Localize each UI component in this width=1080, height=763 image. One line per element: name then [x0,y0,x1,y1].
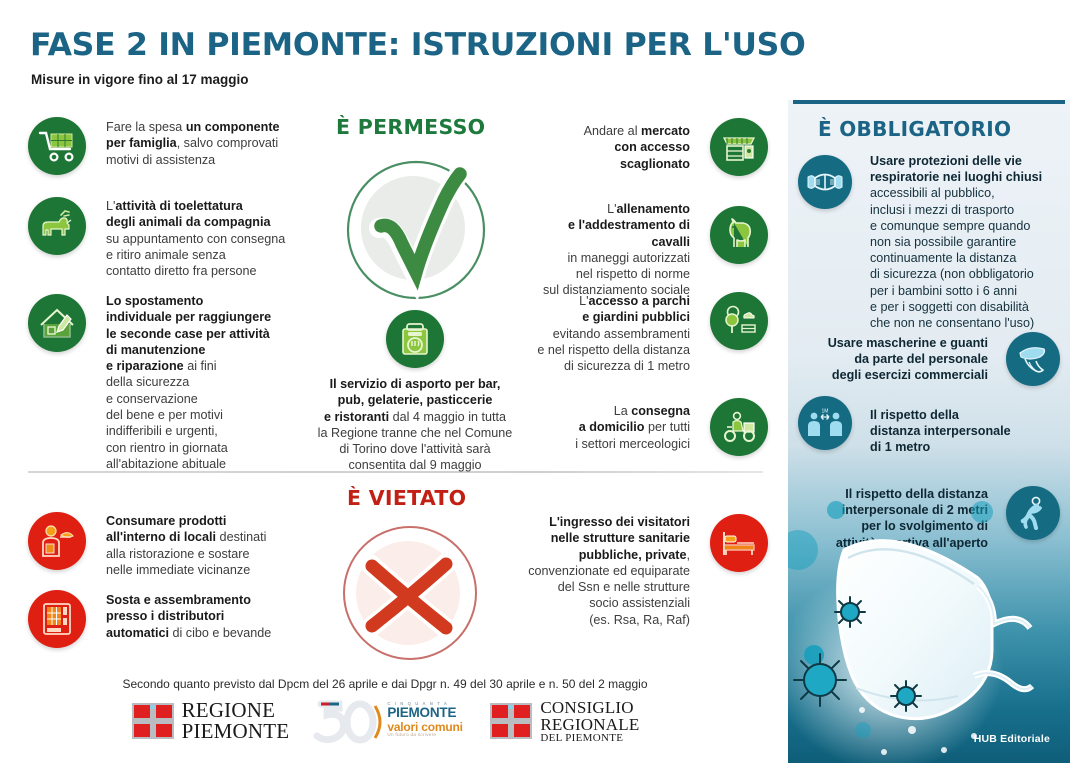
forbidden-item-1-text: Consumare prodottiall'interno di locali … [106,510,328,578]
permitted-item-4: Andare al mercatocon accessoscaglionato [540,118,768,172]
logo-line-3: DEL PIEMONTE [540,733,639,744]
logo-line-1: REGIONE [182,700,290,721]
permitted-item-5-text: L'allenamentoe l'addestramento di cavall… [540,198,690,299]
permitted-item-6-text: L'accesso a parchie giardini pubblicievi… [528,290,690,374]
forbidden-item-2-text: Sosta e assembramentopresso i distributo… [106,588,328,641]
permitted-item-1: Fare la spesa un componenteper famiglia,… [28,115,328,168]
permitted-item-5: L'allenamentoe l'addestramento di cavall… [540,198,768,299]
eating-inside-venue-icon [28,512,86,570]
credit-label: HUB Editoriale [974,733,1050,745]
logo-line-2: REGIONALE [540,716,639,733]
forbidden-cross-mark [336,518,486,673]
permitted-check-mark [339,150,494,315]
page-subtitle: Misure in vigore fino al 17 maggio [31,72,249,87]
permitted-item-2-text: L'attività di toelettaturadegli animali … [106,195,328,279]
forbidden-item-2: Sosta e assembramentopresso i distributo… [28,588,328,641]
permitted-item-2: L'attività di toelettaturadegli animali … [28,195,328,279]
vending-machine-icon [28,590,86,648]
footer-logos: REGIONE PIEMONTE C I N Q U A N T A PIEMO… [0,698,770,744]
section-heading-permitted: È PERMESSO [336,115,485,139]
permitted-center-item-text: Il servizio di asporto per bar,pub, gela… [290,376,540,474]
gloves-mask-staff-icon [1006,332,1060,386]
logo-line-3: Un futuro da scrivere [387,733,462,738]
forbidden-item-3: L'ingresso dei visitatorinelle strutture… [520,512,768,628]
logo-line-1: PIEMONTE [387,706,462,720]
mandatory-item-3: 1M Il rispetto delladistanza interperson… [798,396,1060,456]
logo-consiglio-regionale: CONSIGLIO REGIONALE DEL PIEMONTE [489,699,639,744]
section-heading-mandatory: È OBBLIGATORIO [818,117,1011,141]
panel-top-rule [793,100,1065,104]
permitted-item-7-text: La consegnaa domicilio per tuttii settor… [528,396,690,452]
market-stall-icon [710,118,768,176]
house-repair-icon [28,294,86,352]
permitted-item-3: Lo spostamentoindividuale per raggiunger… [28,292,328,472]
logo-regione-piemonte: REGIONE PIEMONTE [131,700,290,742]
permitted-center-item: Il servizio di asporto per bar,pub, gela… [290,310,540,474]
svg-text:1M: 1M [822,408,829,414]
mask-illustration [788,500,1070,763]
footer-note: Secondo quanto previsto dal Dpcm del 26 … [0,677,770,691]
logo-line-1: CONSIGLIO [540,699,639,716]
mandatory-item-1-text: Usare protezioni delle vierespiratorie n… [870,153,1060,331]
consiglio-regionale-wordmark: CONSIGLIO REGIONALE DEL PIEMONTE [540,699,639,744]
face-mask-icon [798,155,852,209]
permitted-item-1-text: Fare la spesa un componenteper famiglia,… [106,115,328,168]
infographic-page: FASE 2 IN PIEMONTE: ISTRUZIONI PER L'USO… [0,0,1080,763]
takeaway-food-bag-icon [386,310,444,368]
fifty-years-mark-icon [313,698,391,744]
permitted-item-7: La consegnaa domicilio per tuttii settor… [528,396,768,452]
delivery-scooter-icon [710,398,768,456]
consiglio-regionale-crest-icon [489,701,533,741]
logo-piemonte-50: C I N Q U A N T A PIEMONTE valori comuni… [313,698,465,744]
shopping-cart-icon [28,117,86,175]
section-heading-forbidden: È VIETATO [347,486,466,510]
page-title: FASE 2 IN PIEMONTE: ISTRUZIONI PER L'USO [30,27,805,63]
mandatory-item-3-text: Il rispetto delladistanza interpersonale… [870,396,1060,456]
hospital-bed-icon [710,514,768,572]
park-tree-bench-icon [710,292,768,350]
permitted-item-6: L'accesso a parchie giardini pubblicievi… [528,290,768,374]
piemonte-valori-comuni-wordmark: C I N Q U A N T A PIEMONTE valori comuni… [387,702,462,738]
mandatory-item-2-text: Usare mascherine e guantida parte del pe… [796,332,988,384]
permitted-item-4-text: Andare al mercatocon accessoscaglionato [540,118,690,172]
forbidden-item-1: Consumare prodottiall'interno di locali … [28,510,328,578]
mandatory-panel: È OBBLIGATORIO Usare protezioni delle vi… [788,100,1070,763]
mandatory-item-2: Usare mascherine e guantida parte del pe… [796,332,1060,384]
pet-dog-grooming-icon [28,197,86,255]
regione-piemonte-wordmark: REGIONE PIEMONTE [182,700,290,742]
logo-line-2: PIEMONTE [182,721,290,742]
social-distance-1m-icon: 1M [798,396,852,450]
regione-piemonte-crest-icon [131,701,175,741]
mandatory-item-1: Usare protezioni delle vierespiratorie n… [798,153,1060,331]
horse-icon [710,206,768,264]
forbidden-item-3-text: L'ingresso dei visitatorinelle strutture… [520,512,690,628]
